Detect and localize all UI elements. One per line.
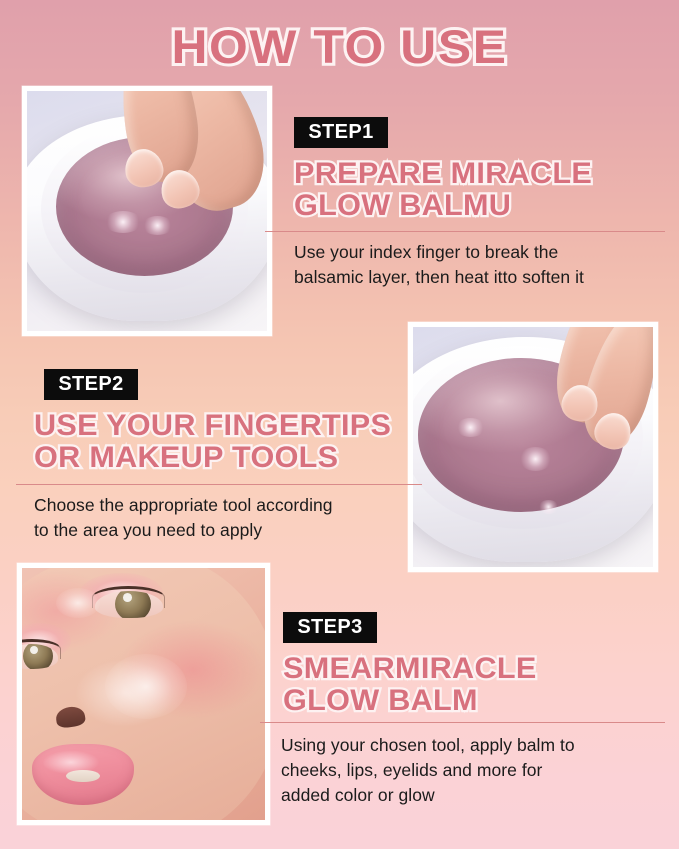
step-2-heading: USE YOUR FINGERTIPS OR MAKEUP TOOLS	[34, 410, 432, 474]
step-2-badge: STEP2	[44, 369, 138, 400]
step-1-badge: STEP1	[294, 117, 388, 148]
step-2-body: Choose the appropriate tool according to…	[34, 493, 404, 543]
step-3-heading: SMEARMIRACLE GLOW BALM	[283, 653, 671, 717]
step-2-divider	[16, 484, 422, 485]
step-1-photo-image	[27, 91, 267, 331]
step-1-body: Use your index finger to break the balsa…	[294, 240, 664, 290]
step-2-photo	[408, 322, 658, 572]
step-1-heading: PREPARE MIRACLE GLOW BALMU	[294, 158, 671, 222]
jar-scene-2	[413, 327, 653, 567]
how-to-use-page: HOW TO USE	[0, 0, 679, 849]
step-3-badge: STEP3	[283, 612, 377, 643]
step-3-divider	[260, 722, 665, 723]
step-3-photo	[17, 563, 270, 825]
step-1-divider	[265, 231, 665, 232]
step-3-body: Using your chosen tool, apply balm to ch…	[281, 733, 661, 808]
step-2-photo-image	[413, 327, 653, 567]
face-scene	[22, 568, 265, 820]
step-1-photo	[22, 86, 272, 336]
jar-scene-1	[27, 91, 267, 331]
step-3-photo-image	[22, 568, 265, 820]
page-title: HOW TO USE	[0, 21, 679, 73]
